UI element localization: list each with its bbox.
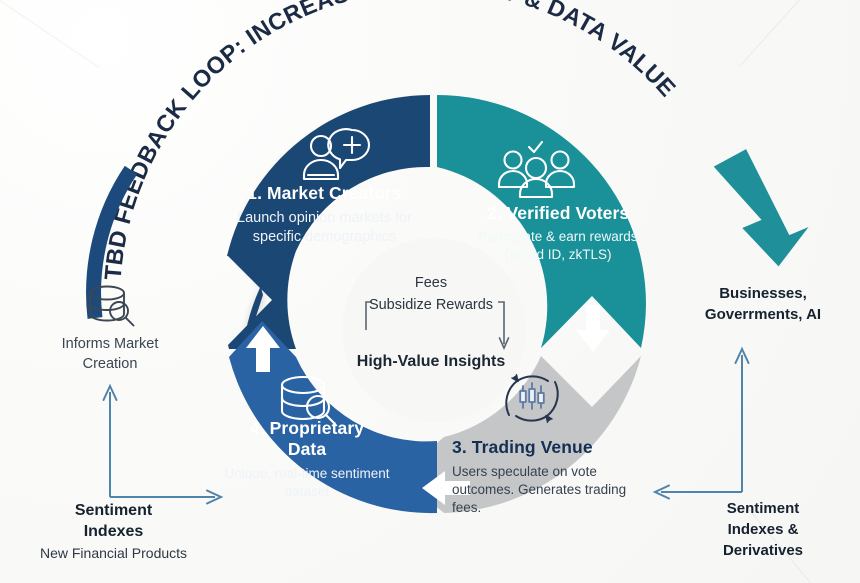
left-outcome-line1: Sentiment <box>6 500 221 521</box>
right-consumers-line2: Goverrments, AI <box>668 304 858 325</box>
hub-circle <box>342 238 526 422</box>
hub-top-text: Fees Subsidize Rewards <box>341 272 521 316</box>
quadrant-2-title: 2. Verified Voters <box>448 203 668 223</box>
quadrant-4-title-line2: Data <box>212 439 402 460</box>
left-caption-line1: Informs Market <box>20 334 200 354</box>
left-caption: Informs Market Creation <box>20 334 200 374</box>
quadrant-1-text: 1. Market Creators Launch opinion market… <box>222 183 427 247</box>
left-outcome-connector <box>104 386 222 504</box>
hub-subsidize-label: Subsidize Rewards <box>341 294 521 316</box>
left-outcome-sub: New Financial Products <box>6 543 221 563</box>
quadrant-1-title: 1. Market Creators <box>222 183 427 203</box>
quadrant-2-body-line1: Participate & earn rewards <box>448 228 668 246</box>
diagram-canvas: TBD FEEDBACK LOOP: INCREASING LIQUIDITY … <box>0 0 860 583</box>
quadrant-2-body-line2: (World ID, zkTLS) <box>448 246 668 264</box>
right-outcome-line2: Indexes & <box>668 519 858 540</box>
right-outcome-line1: Sentiment <box>668 498 858 519</box>
quadrant-4-text: 4. Proprietary Data Unique, real-time se… <box>212 418 402 501</box>
title-arc-arrow <box>712 144 812 273</box>
quadrant-4-body: Unique, real-time sentiment dataset <box>212 465 402 501</box>
hub-fees-label: Fees <box>341 272 521 294</box>
quadrant-2-text: 2. Verified Voters Participate & earn re… <box>448 203 668 264</box>
quadrant-3-body: Users speculate on vote outcomes. Genera… <box>452 463 642 517</box>
right-consumers-line1: Businesses, <box>668 283 858 304</box>
quadrant-3-title: 3. Trading Venue <box>452 437 642 457</box>
left-caption-line2: Creation <box>20 354 200 374</box>
quadrant-3-text: 3. Trading Venue Users speculate on vote… <box>452 437 642 517</box>
hub-insights-label: High-Value Insights <box>331 352 531 372</box>
right-outcome-line3: Derivatives <box>668 540 858 561</box>
right-outcome-connector <box>655 349 749 499</box>
quadrant-4-title-line1: 4. Proprietary <box>212 418 402 439</box>
right-consumers: Businesses, Goverrments, AI <box>668 283 858 325</box>
ring-arrow-down-right <box>576 305 610 352</box>
right-outcome: Sentiment Indexes & Derivatives <box>668 498 858 561</box>
left-outcome: Sentiment Indexes New Financial Products <box>6 500 221 563</box>
left-outcome-line2: Indexes <box>6 521 221 542</box>
quadrant-1-body: Launch opinion markets for specific demo… <box>222 209 427 247</box>
